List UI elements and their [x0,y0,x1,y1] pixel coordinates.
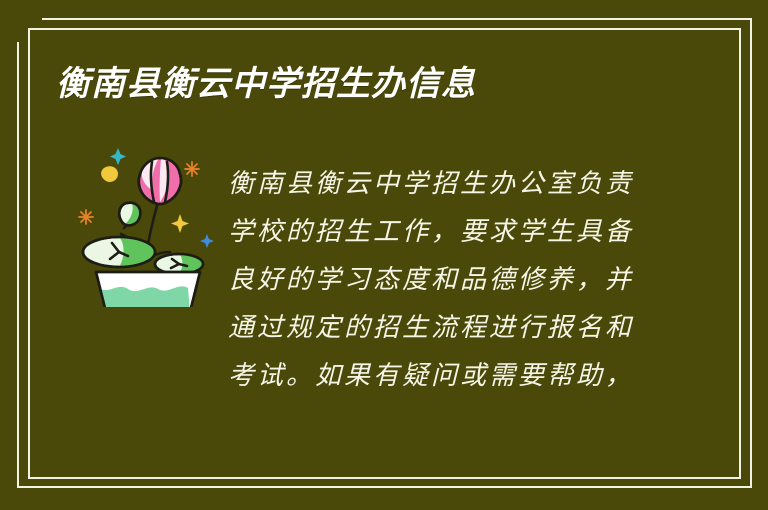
body-line: 衡南县衡云中学招生办公室负责 [228,160,652,208]
body-paragraph: 衡南县衡云中学招生办公室负责 学校的招生工作，要求学生具备 良好的学习态度和品德… [228,160,652,400]
potted-lotus-flower-illustration [66,142,216,307]
body-line: 学校的招生工作，要求学生具备 [228,208,652,256]
body-line: 通过规定的招生流程进行报名和 [228,304,652,352]
frame-corner-mask-bottom-right-horizontal [726,490,768,510]
body-line: 良好的学习态度和品德修养，并 [228,256,652,304]
frame-corner-mask-bottom-right-vertical [752,468,768,510]
frame-corner-mask-top-left-vertical [0,0,20,42]
frame-corner-mask-top-left-horizontal [0,0,42,20]
body-line: 考试。如果有疑问或需要帮助， [228,352,652,400]
page-title: 衡南县衡云中学招生办信息 [56,62,476,106]
